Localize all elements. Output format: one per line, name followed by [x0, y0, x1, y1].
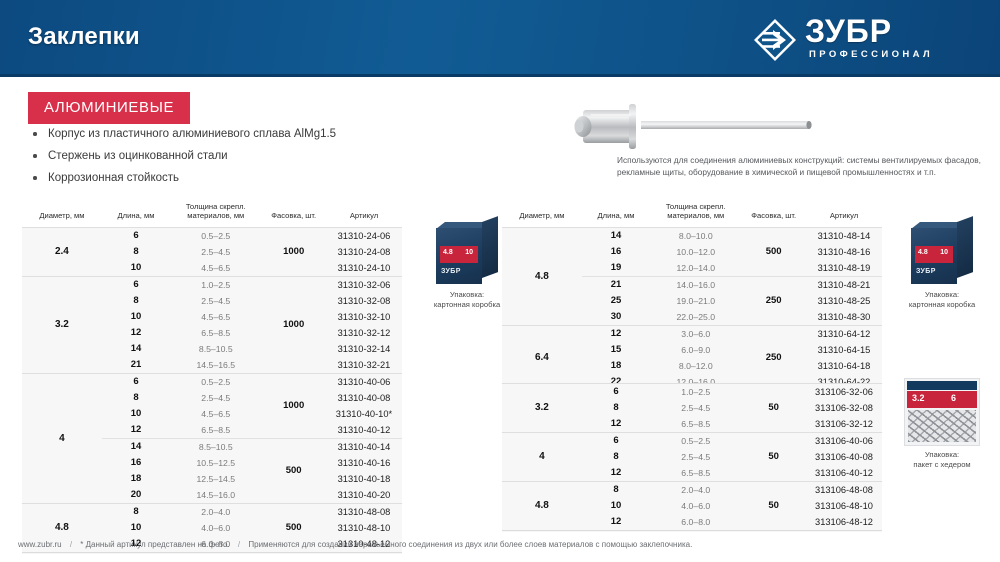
- col-header-packing: Фасовка, шт.: [741, 198, 806, 228]
- cell-length: 8: [582, 482, 650, 499]
- cell-length: 18: [102, 471, 170, 487]
- cell-thickness: 6.5–8.5: [650, 416, 741, 433]
- cell-article: 313106-48-12: [806, 514, 882, 531]
- brand-logo: ЗУБР ПРОФЕССИОНАЛ: [753, 12, 968, 66]
- cell-length: 14: [582, 228, 650, 245]
- cell-article: 31310-48-14: [806, 228, 882, 245]
- cell-article: 31310-32-08: [326, 293, 402, 309]
- feature-item: Коррозионная стойкость: [30, 171, 460, 185]
- bag-length-label: 6: [951, 393, 956, 403]
- cardboard-box-photo: 4.8 10 ЗУБР: [436, 222, 498, 286]
- cell-article: 31310-32-06: [326, 277, 402, 294]
- footer-note: www.zubr.ru / * Данный артикул представл…: [18, 540, 692, 549]
- cell-length: 19: [582, 260, 650, 277]
- cell-thickness: 4.0–6.0: [170, 520, 261, 536]
- cell-length: 10: [102, 520, 170, 536]
- cell-thickness: 2.5–4.5: [170, 293, 261, 309]
- cell-article: 31310-40-08: [326, 390, 402, 406]
- table-row: 4.882.0–4.050031310-48-08: [22, 504, 402, 521]
- cell-article: 31310-40-18: [326, 471, 402, 487]
- cell-length: 16: [102, 455, 170, 471]
- cell-thickness: 10.0–12.0: [650, 244, 741, 260]
- cell-packing: 250: [741, 277, 806, 326]
- cell-article: 313106-48-08: [806, 482, 882, 499]
- cell-article: 313106-32-08: [806, 400, 882, 416]
- cell-length: 10: [102, 260, 170, 277]
- box-length-label: 10: [465, 249, 473, 256]
- cell-thickness: 6.5–8.5: [650, 465, 741, 482]
- cell-thickness: 0.5–2.5: [170, 374, 261, 391]
- cell-article: 313106-40-06: [806, 433, 882, 450]
- cell-length: 6: [102, 374, 170, 391]
- catalog-page: Заклепки ЗУБР ПРОФЕССИОНАЛ АЛЮМИНИЕВЫЕ К…: [0, 0, 1000, 562]
- footnote-usage: Применяются для создания неразъемного со…: [248, 540, 692, 549]
- cell-thickness: 6.0–8.0: [650, 514, 741, 531]
- cell-diameter: 3.2: [22, 277, 102, 374]
- cell-packing: 500: [741, 228, 806, 277]
- page-title: Заклепки: [28, 23, 140, 51]
- cell-packing: 50: [741, 384, 806, 433]
- cell-length: 8: [102, 504, 170, 521]
- col-header-packing: Фасовка, шт.: [261, 198, 326, 228]
- cell-diameter: 4.8: [502, 228, 582, 326]
- box-length-label: 10: [940, 249, 948, 256]
- cell-thickness: 4.5–6.5: [170, 260, 261, 277]
- cell-thickness: 2.5–4.5: [170, 244, 261, 260]
- rivets-pile: [908, 410, 976, 442]
- cell-length: 12: [582, 416, 650, 433]
- package-caption: Упаковка: пакет с хедером: [888, 450, 996, 470]
- cell-diameter: 4.8: [502, 482, 582, 531]
- cell-thickness: 6.0–9.0: [650, 342, 741, 358]
- page-footer: www.zubr.ru / * Данный артикул представл…: [0, 536, 1000, 562]
- cell-packing: 500: [261, 439, 326, 504]
- spec-table-right-bottom: 3.261.0–2.550313106-32-0682.5–4.5313106-…: [502, 383, 882, 531]
- cell-packing: 50: [741, 482, 806, 531]
- cell-length: 8: [102, 244, 170, 260]
- box-size-label: 4.8: [918, 249, 928, 256]
- col-header-thickness: Толщина скрепл.материалов, мм: [650, 198, 741, 228]
- brand-subtitle: ПРОФЕССИОНАЛ: [809, 49, 933, 60]
- cell-article: 31310-48-25: [806, 293, 882, 309]
- col-header-article: Артикул: [806, 198, 882, 228]
- cell-length: 12: [582, 514, 650, 531]
- cell-thickness: 8.0–10.0: [650, 228, 741, 245]
- cell-article: 31310-24-08: [326, 244, 402, 260]
- cell-thickness: 6.5–8.5: [170, 325, 261, 341]
- cell-thickness: 12.0–14.0: [650, 260, 741, 277]
- cell-thickness: 2.0–4.0: [170, 504, 261, 521]
- cell-packing: 1000: [261, 228, 326, 277]
- cell-article: 31310-32-14: [326, 341, 402, 357]
- cell-article: 31310-48-19: [806, 260, 882, 277]
- cell-thickness: 14.5–16.0: [170, 487, 261, 504]
- header-bag-photo: ЗУБР 3.2 6: [904, 378, 980, 446]
- cell-length: 12: [102, 325, 170, 341]
- table-body: 2.460.5–2.5100031310-24-0682.5–4.531310-…: [22, 228, 402, 554]
- box-brand-label: ЗУБР: [916, 268, 936, 275]
- cell-article: 313106-40-08: [806, 449, 882, 465]
- cell-article: 31310-40-10*: [326, 406, 402, 422]
- col-header-length: Длина, мм: [102, 198, 170, 228]
- table-row: 6.4123.0–6.025031310-64-12: [502, 326, 882, 343]
- table-row: 460.5–2.550313106-40-06: [502, 433, 882, 450]
- cell-length: 30: [582, 309, 650, 326]
- cell-thickness: 1.0–2.5: [170, 277, 261, 294]
- cell-article: 31310-48-21: [806, 277, 882, 294]
- cell-length: 14: [102, 439, 170, 456]
- footnote-star: * Данный артикул представлен на фото.: [80, 540, 229, 549]
- cell-thickness: 6.5–8.5: [170, 422, 261, 439]
- cell-article: 31310-64-12: [806, 326, 882, 343]
- cell-article: 31310-40-20: [326, 487, 402, 504]
- box-brand-label: ЗУБР: [441, 268, 461, 275]
- aluminum-rivet-photo: [545, 96, 845, 158]
- cell-thickness: 2.5–4.5: [650, 449, 741, 465]
- bag-size-label: 3.2: [912, 393, 925, 403]
- cell-length: 12: [582, 465, 650, 482]
- cell-article: 31310-24-06: [326, 228, 402, 245]
- category-badge: АЛЮМИНИЕВЫЕ: [28, 92, 190, 124]
- cell-thickness: 14.5–16.5: [170, 357, 261, 374]
- package-caption: Упаковка: картонная коробка: [888, 290, 996, 310]
- cell-thickness: 10.5–12.5: [170, 455, 261, 471]
- zubr-arrow-logo-icon: [753, 18, 797, 62]
- cell-length: 21: [102, 357, 170, 374]
- cell-article: 31310-32-12: [326, 325, 402, 341]
- col-header-diameter: Диаметр, мм: [502, 198, 582, 228]
- cell-thickness: 4.5–6.5: [170, 309, 261, 325]
- cell-length: 12: [102, 422, 170, 439]
- col-header-article: Артикул: [326, 198, 402, 228]
- cell-article: 31310-40-06: [326, 374, 402, 391]
- table-bottom-rule: [502, 531, 882, 532]
- cell-article: 31310-32-10: [326, 309, 402, 325]
- cell-thickness: 8.5–10.5: [170, 341, 261, 357]
- cell-article: 313106-32-06: [806, 384, 882, 401]
- cell-thickness: 19.0–21.0: [650, 293, 741, 309]
- cell-diameter: 4: [22, 374, 102, 504]
- cell-thickness: 4.5–6.5: [170, 406, 261, 422]
- table-row: 4.882.0–4.050313106-48-08: [502, 482, 882, 499]
- cell-length: 15: [582, 342, 650, 358]
- cardboard-box-photo: 4.8 10 ЗУБР: [911, 222, 973, 286]
- feature-list: Корпус из пластичного алюминиевого сплав…: [30, 127, 460, 193]
- cell-length: 25: [582, 293, 650, 309]
- cell-thickness: 2.5–4.5: [650, 400, 741, 416]
- cell-thickness: 3.0–6.0: [650, 326, 741, 343]
- col-header-diameter: Диаметр, мм: [22, 198, 102, 228]
- cell-packing: 1000: [261, 277, 326, 374]
- box-size-label: 4.8: [443, 249, 453, 256]
- cell-packing: 250: [741, 326, 806, 391]
- cell-diameter: 6.4: [502, 326, 582, 391]
- cell-thickness: 12.5–14.5: [170, 471, 261, 487]
- table-row: 460.5–2.5100031310-40-06: [22, 374, 402, 391]
- col-header-length: Длина, мм: [582, 198, 650, 228]
- cell-diameter: 4: [502, 433, 582, 482]
- cell-diameter: 2.4: [22, 228, 102, 277]
- cell-article: 31310-48-16: [806, 244, 882, 260]
- cell-thickness: 22.0–25.0: [650, 309, 741, 326]
- cell-length: 6: [102, 277, 170, 294]
- cell-length: 18: [582, 358, 650, 374]
- cell-packing: 1000: [261, 374, 326, 439]
- spec-table-left: Диаметр, мм Длина, мм Толщина скрепл.мат…: [22, 198, 402, 553]
- hero-description: Используются для соединения алюминиевых …: [617, 154, 987, 178]
- feature-item: Стержень из оцинкованной стали: [30, 149, 460, 163]
- cell-length: 20: [102, 487, 170, 504]
- cell-article: 31310-32-21: [326, 357, 402, 374]
- cell-length: 6: [102, 228, 170, 245]
- table-body: 4.8148.0–10.050031310-48-141610.0–12.031…: [502, 228, 882, 392]
- cell-packing: 50: [741, 433, 806, 482]
- cell-thickness: 8.0–12.0: [650, 358, 741, 374]
- cell-article: 31310-64-18: [806, 358, 882, 374]
- cell-thickness: 0.5–2.5: [650, 433, 741, 450]
- package-right-bottom: ЗУБР 3.2 6 Упаковка: пакет с хедером: [888, 378, 996, 470]
- cell-thickness: 14.0–16.0: [650, 277, 741, 294]
- cell-article: 31310-40-16: [326, 455, 402, 471]
- cell-article: 31310-48-08: [326, 504, 402, 521]
- spec-table-right-top: Диаметр, мм Длина, мм Толщина скрепл.мат…: [502, 198, 882, 391]
- cell-length: 10: [102, 406, 170, 422]
- table-row: 3.261.0–2.550313106-32-06: [502, 384, 882, 401]
- table-row: 4.8148.0–10.050031310-48-14: [502, 228, 882, 245]
- cell-thickness: 1.0–2.5: [650, 384, 741, 401]
- cell-length: 6: [582, 384, 650, 401]
- table-row: 2.460.5–2.5100031310-24-06: [22, 228, 402, 245]
- footer-separator: /: [238, 540, 240, 549]
- cell-thickness: 0.5–2.5: [170, 228, 261, 245]
- brand-name: ЗУБР: [805, 14, 892, 48]
- feature-item: Корпус из пластичного алюминиевого сплав…: [30, 127, 460, 141]
- cell-thickness: 8.5–10.5: [170, 439, 261, 456]
- cell-length: 8: [582, 449, 650, 465]
- cell-article: 31310-64-15: [806, 342, 882, 358]
- cell-length: 10: [102, 309, 170, 325]
- cell-length: 8: [102, 293, 170, 309]
- cell-article: 313106-48-10: [806, 498, 882, 514]
- table-row: 3.261.0–2.5100031310-32-06: [22, 277, 402, 294]
- cell-length: 8: [102, 390, 170, 406]
- cell-article: 31310-40-14: [326, 439, 402, 456]
- cell-length: 10: [582, 498, 650, 514]
- cell-length: 12: [582, 326, 650, 343]
- cell-length: 6: [582, 433, 650, 450]
- cell-length: 16: [582, 244, 650, 260]
- package-right-top: 4.8 10 ЗУБР Упаковка: картонная коробка: [888, 222, 996, 310]
- cell-thickness: 2.0–4.0: [650, 482, 741, 499]
- cell-length: 8: [582, 400, 650, 416]
- footer-separator: /: [70, 540, 72, 549]
- cell-diameter: 3.2: [502, 384, 582, 433]
- cell-article: 31310-48-10: [326, 520, 402, 536]
- cell-article: 31310-24-10: [326, 260, 402, 277]
- cell-thickness: 4.0–6.0: [650, 498, 741, 514]
- cell-thickness: 2.5–4.5: [170, 390, 261, 406]
- page-header: Заклепки ЗУБР ПРОФЕССИОНАЛ: [0, 0, 1000, 77]
- cell-length: 14: [102, 341, 170, 357]
- cell-article: 313106-40-12: [806, 465, 882, 482]
- site-url[interactable]: www.zubr.ru: [18, 540, 62, 549]
- cell-article: 31310-48-30: [806, 309, 882, 326]
- col-header-thickness: Толщина скрепл.материалов, мм: [170, 198, 261, 228]
- cell-article: 31310-40-12: [326, 422, 402, 439]
- cell-length: 21: [582, 277, 650, 294]
- cell-article: 313106-32-12: [806, 416, 882, 433]
- table-body: 3.261.0–2.550313106-32-0682.5–4.5313106-…: [502, 384, 882, 532]
